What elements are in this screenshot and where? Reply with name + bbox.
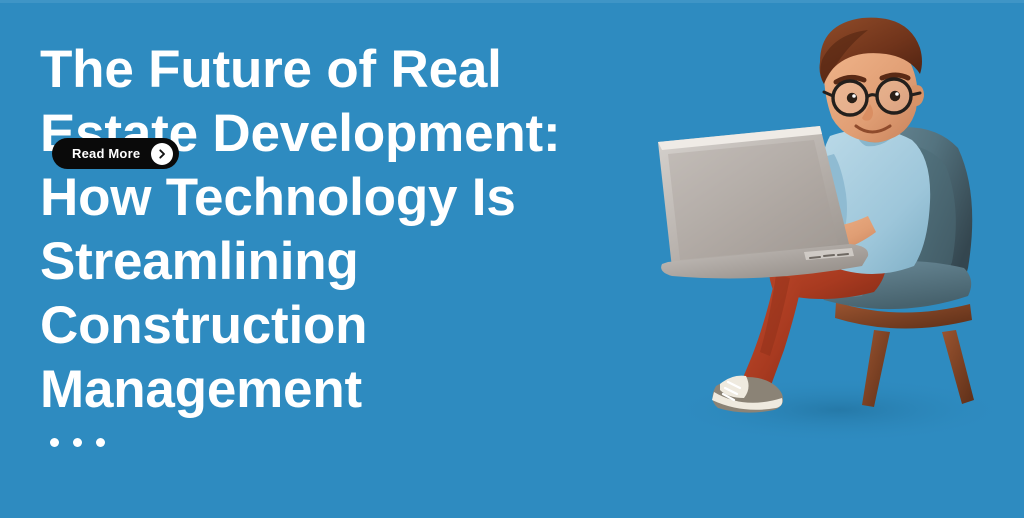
ellipsis-dot [96, 438, 105, 447]
text-column: The Future of Real Estate Development: H… [40, 38, 640, 452]
page-title: The Future of Real Estate Development: H… [40, 38, 640, 422]
read-more-button[interactable]: Read More [52, 138, 179, 169]
head [820, 18, 925, 143]
ellipsis-indicator [50, 432, 640, 452]
blog-card-banner: The Future of Real Estate Development: H… [0, 0, 1024, 518]
ellipsis-dot [50, 438, 59, 447]
ellipsis-dot [73, 438, 82, 447]
chevron-right-icon[interactable] [151, 143, 173, 165]
hero-illustration [624, 0, 1024, 518]
read-more-label: Read More [72, 147, 140, 160]
